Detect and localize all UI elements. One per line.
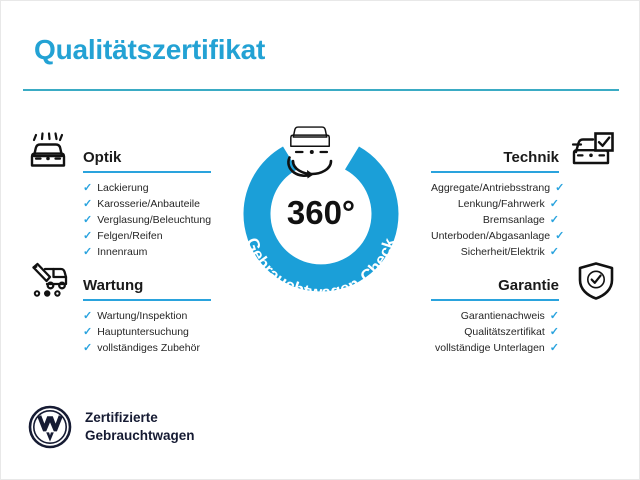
check-icon: ✓: [83, 198, 92, 210]
check-icon: ✓: [550, 342, 559, 354]
checklist-item-label: Karosserie/Anbauteile: [97, 198, 200, 210]
checklist-item-label: Qualitätszertifikat: [464, 326, 545, 338]
checklist-item: Bremsanlage✓: [431, 212, 559, 228]
section-optik: Optik ✓Lackierung✓Karosserie/Anbauteile✓…: [83, 139, 211, 260]
checklist-item-label: vollständige Unterlagen: [435, 342, 545, 354]
check-icon: ✓: [83, 342, 92, 354]
checklist-item-label: Lenkung/Fahrwerk: [458, 198, 545, 210]
vw-footer-line1: Zertifizierte: [85, 409, 195, 427]
checklist-item-label: Sicherheit/Elektrik: [461, 246, 545, 258]
badge-360-gebrauchtwagen-check: Gebrauchtwagen-Check 360°: [226, 113, 416, 313]
checklist-item: ✓Verglasung/Beleuchtung: [83, 212, 211, 228]
vw-logo: [28, 405, 72, 449]
section-technik: Technik Aggregate/Antriebsstrang✓Lenkung…: [431, 139, 559, 260]
check-icon: ✓: [555, 230, 564, 242]
section-optik-list: ✓Lackierung✓Karosserie/Anbauteile✓Vergla…: [83, 180, 211, 260]
checklist-item-label: Hauptuntersuchung: [97, 326, 189, 338]
check-icon: ✓: [550, 246, 559, 258]
section-garantie-divider: [431, 299, 559, 301]
checklist-item-label: vollständiges Zubehör: [97, 342, 200, 354]
checklist-item-label: Garantienachweis: [461, 310, 545, 322]
checklist-item: ✓Lackierung: [83, 180, 211, 196]
pen-car-service-icon: [25, 260, 71, 300]
check-icon: ✓: [83, 310, 92, 322]
section-garantie-title: Garantie: [498, 277, 559, 294]
check-icon: ✓: [83, 326, 92, 338]
section-wartung-title: Wartung: [83, 277, 143, 294]
section-wartung: Wartung ✓Wartung/Inspektion✓Hauptuntersu…: [83, 267, 211, 356]
badge-center-label: 360°: [287, 194, 355, 231]
section-garantie-list: Garantienachweis✓Qualitätszertifikat✓vol…: [431, 308, 559, 356]
check-icon: ✓: [83, 230, 92, 242]
checklist-item: Qualitätszertifikat✓: [431, 324, 559, 340]
checklist-item: ✓Felgen/Reifen: [83, 228, 211, 244]
check-icon: ✓: [555, 182, 564, 194]
vw-footer-text: Zertifizierte Gebrauchtwagen: [85, 409, 195, 445]
checklist-item-label: Innenraum: [97, 246, 147, 258]
checklist-item: ✓vollständiges Zubehör: [83, 340, 211, 356]
page-title: Qualitätszertifikat: [34, 34, 265, 66]
checklist-item: ✓Innenraum: [83, 244, 211, 260]
checklist-item: ✓Hauptuntersuchung: [83, 324, 211, 340]
checklist-item: Garantienachweis✓: [431, 308, 559, 324]
section-optik-header: Optik: [83, 139, 211, 173]
car-checkbox-icon: [569, 132, 615, 172]
car-shine-icon: [25, 132, 71, 172]
section-technik-header: Technik: [431, 139, 559, 173]
section-technik-title: Technik: [503, 149, 559, 166]
header-divider: [23, 89, 619, 91]
checklist-item-label: Wartung/Inspektion: [97, 310, 187, 322]
checklist-item: Sicherheit/Elektrik✓: [431, 244, 559, 260]
check-icon: ✓: [550, 326, 559, 338]
check-icon: ✓: [83, 246, 92, 258]
certificate-page: Qualitätszertifikat Optik: [0, 0, 640, 480]
checklist-item-label: Aggregate/Antriebsstrang: [431, 182, 550, 194]
checklist-item: Aggregate/Antriebsstrang✓: [431, 180, 559, 196]
check-icon: ✓: [83, 214, 92, 226]
section-technik-list: Aggregate/Antriebsstrang✓Lenkung/Fahrwer…: [431, 180, 559, 260]
check-icon: ✓: [550, 214, 559, 226]
checklist-item-label: Verglasung/Beleuchtung: [97, 214, 211, 226]
checklist-item-label: Lackierung: [97, 182, 148, 194]
checklist-item-label: Unterboden/Abgasanlage: [431, 230, 550, 242]
check-icon: ✓: [83, 182, 92, 194]
check-icon: ✓: [550, 198, 559, 210]
checklist-item: Lenkung/Fahrwerk✓: [431, 196, 559, 212]
check-icon: ✓: [550, 310, 559, 322]
section-wartung-list: ✓Wartung/Inspektion✓Hauptuntersuchung✓vo…: [83, 308, 211, 356]
section-garantie: Garantie Garantienachweis✓Qualitätszerti…: [431, 267, 559, 356]
section-technik-divider: [431, 171, 559, 173]
section-optik-title: Optik: [83, 149, 121, 166]
checklist-item: ✓Wartung/Inspektion: [83, 308, 211, 324]
checklist-item: vollständige Unterlagen✓: [431, 340, 559, 356]
car-rotation-360-icon: [288, 127, 331, 178]
vw-footer-line2: Gebrauchtwagen: [85, 427, 195, 445]
checklist-item: Unterboden/Abgasanlage✓: [431, 228, 559, 244]
shield-check-icon: [573, 261, 619, 301]
section-wartung-header: Wartung: [83, 267, 211, 301]
checklist-item: ✓Karosserie/Anbauteile: [83, 196, 211, 212]
section-garantie-header: Garantie: [431, 267, 559, 301]
vw-footer: Zertifizierte Gebrauchtwagen: [28, 405, 195, 449]
checklist-item-label: Bremsanlage: [483, 214, 545, 226]
checklist-item-label: Felgen/Reifen: [97, 230, 162, 242]
section-wartung-divider: [83, 299, 211, 301]
section-optik-divider: [83, 171, 211, 173]
